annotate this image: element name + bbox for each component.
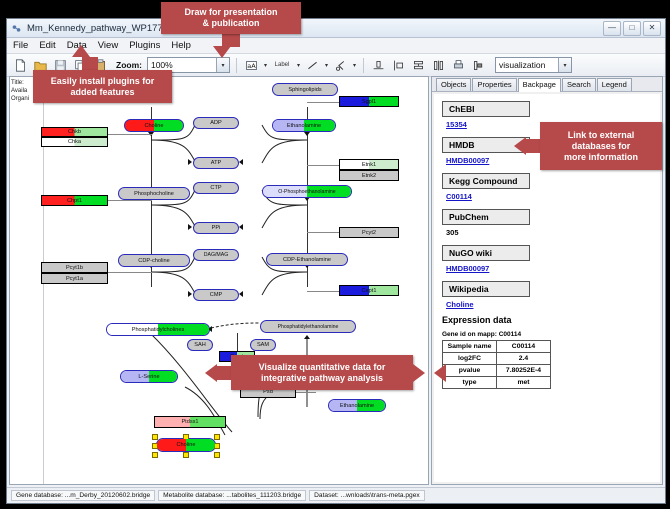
annotation-plugins-line2: added features <box>70 87 134 98</box>
menu-bar: File Edit Data View Plugins Help <box>7 38 665 54</box>
label-tool-text: Label <box>275 62 290 68</box>
menu-item-help[interactable]: Help <box>171 40 191 51</box>
node-ppi[interactable]: PPi <box>193 222 239 234</box>
edge-pcyt2-link <box>307 232 339 233</box>
annotation-links-line3: more information <box>564 152 638 163</box>
node-ctp[interactable]: CTP <box>193 182 239 194</box>
toolbar-separator <box>363 58 364 73</box>
db-header-kegg: Kegg Compound <box>442 173 530 189</box>
tab-search[interactable]: Search <box>562 78 596 91</box>
gene-chkb[interactable]: Chkb <box>41 127 108 137</box>
annotation-links: Link to external databases for more info… <box>540 122 662 170</box>
node-label: Etnk2 <box>362 173 376 179</box>
chevron-down-icon[interactable]: ▾ <box>558 58 571 72</box>
selection-handle[interactable] <box>214 452 220 458</box>
annotation-plugins: Easily install plugins for added feature… <box>33 70 172 103</box>
arrow-icon <box>239 291 243 297</box>
screenshot-root: Mm_Kennedy_pathway_WP1771_45176.gpml — □… <box>0 0 670 509</box>
edge-sgpl1-link <box>307 102 339 103</box>
node-label: Ethanolamine <box>287 123 321 129</box>
table-cell-value: 2.4 <box>497 353 551 365</box>
node-choline-selected[interactable]: Choline <box>156 438 216 452</box>
table-cell-value: met <box>497 377 551 389</box>
db-entry-wikipedia: Wikipedia Choline <box>442 279 660 309</box>
gene-etnk2[interactable]: Etnk2 <box>339 170 399 181</box>
node-label: Ptdss1 <box>181 419 198 425</box>
maximize-button[interactable]: □ <box>623 21 641 36</box>
menu-item-view[interactable]: View <box>98 40 118 51</box>
table-row: log2FC 2.4 <box>443 353 551 365</box>
selection-handle[interactable] <box>183 452 189 458</box>
table-row: Sample name C00114 <box>443 341 551 353</box>
node-label: CMP <box>210 292 222 298</box>
annotation-draw-line2: & publication <box>203 18 260 29</box>
node-cdp-ethanolamine[interactable]: CDP-Ethanolamine <box>266 253 348 266</box>
node-label: Etnk1 <box>362 162 376 168</box>
chevron-down-icon[interactable]: ▾ <box>216 58 229 72</box>
node-label: O-Phosphoethanolamine <box>278 189 335 195</box>
annotation-visualize-line2: integrative pathway analysis <box>261 373 383 384</box>
node-sphingolipids[interactable]: Sphingolipids <box>272 83 338 96</box>
annotation-draw: Draw for presentation & publication <box>161 2 301 34</box>
arrow-icon <box>188 291 192 297</box>
db-entry-nugo: NuGO wiki HMDB00097 <box>442 243 660 273</box>
chevron-down-icon[interactable]: ▾ <box>325 62 328 69</box>
title-bar: Mm_Kennedy_pathway_WP1771_45176.gpml — □… <box>7 19 665 38</box>
minimize-button[interactable]: — <box>603 21 621 36</box>
selection-handle[interactable] <box>214 434 220 440</box>
status-gene-database: Gene database: ...m_Derby_20120602.bridg… <box>11 490 155 501</box>
zoom-label: Zoom: <box>116 60 142 70</box>
bracket-icon[interactable] <box>390 57 407 74</box>
annotation-visualize-line1: Visualize quantitative data for <box>259 362 386 373</box>
node-label: PPi <box>212 225 221 231</box>
table-cell-key: pvalue <box>443 365 497 377</box>
node-label: Sgpl1 <box>362 99 376 105</box>
visualization-combo[interactable]: visualization ▾ <box>495 57 572 73</box>
edge-chk-link <box>108 134 152 135</box>
node-o-phosphoethanolamine[interactable]: O-Phosphoethanolamine <box>262 185 352 198</box>
layer-icon[interactable] <box>470 57 487 74</box>
stack-icon[interactable] <box>410 57 427 74</box>
annotation-plugins-line1: Easily install plugins for <box>51 76 155 87</box>
arrow-icon <box>239 224 243 230</box>
arrow-icon <box>188 159 192 165</box>
node-label: Sphingolipids <box>288 87 321 93</box>
annotation-plugins-arrow <box>72 45 90 57</box>
node-label: Cept1 <box>362 288 377 294</box>
annotation-visualize-arrow-far <box>434 364 446 382</box>
tab-properties[interactable]: Properties <box>472 78 516 91</box>
db-link-wikipedia[interactable]: Choline <box>446 300 660 309</box>
node-sam[interactable]: SAM <box>250 339 276 351</box>
gene-sgpl1[interactable]: Sgpl1 <box>339 96 399 107</box>
tab-backpage[interactable]: Backpage <box>518 78 561 92</box>
table-cell-key: log2FC <box>443 353 497 365</box>
node-ethanolamine-bottom[interactable]: Ethanolamine <box>328 399 386 412</box>
expression-data-table: Sample name C00114 log2FC 2.4 pvalue 7.8… <box>442 340 551 389</box>
node-label: Pcyt1a <box>66 276 83 282</box>
node-label: Phosphatidylethanolamine <box>278 324 339 330</box>
node-label: Pcyt2 <box>362 230 376 236</box>
node-label: CDP-choline <box>138 258 169 264</box>
db-header-wikipedia: Wikipedia <box>442 281 530 297</box>
db-value-pubchem: 305 <box>446 228 660 237</box>
edge-chpt1-link <box>108 200 152 201</box>
db-link-nugo[interactable]: HMDB00097 <box>446 264 660 273</box>
node-label: Phosphocholine <box>134 191 174 197</box>
selection-handle[interactable] <box>152 434 158 440</box>
node-label: Ethanolamine <box>340 403 374 409</box>
status-bar: Gene database: ...m_Derby_20120602.bridg… <box>7 487 665 503</box>
node-label: ATP <box>211 160 221 166</box>
annotation-draw-line1: Draw for presentation <box>184 7 277 18</box>
node-l-serine-left[interactable]: L-Serine <box>120 370 178 383</box>
table-cell-value: 7.80252E-4 <box>497 365 551 377</box>
node-phosphatidylethanolamine[interactable]: Phosphatidylethanolamine <box>260 320 356 333</box>
node-atp[interactable]: ATP <box>193 157 239 169</box>
gene-pcyt1b[interactable]: Pcyt1b <box>41 262 108 273</box>
close-button[interactable]: ✕ <box>643 21 661 36</box>
annotation-links-line2: databases for <box>572 141 631 152</box>
table-row: pvalue 7.80252E-4 <box>443 365 551 377</box>
edge-psd-link <box>296 392 316 393</box>
distribute-icon[interactable] <box>430 57 447 74</box>
expression-data-heading: Expression data <box>442 315 660 325</box>
arrow-icon <box>304 335 310 339</box>
text-box-icon[interactable]: aA <box>243 57 260 74</box>
node-label: CDP-Ethanolamine <box>283 257 331 263</box>
svg-text:aA: aA <box>247 61 256 69</box>
table-row: type met <box>443 377 551 389</box>
side-panel-tabs: Objects Properties Backpage Search Legen… <box>432 77 662 92</box>
node-phosphatidylcholines[interactable]: Phosphatidylcholines <box>106 323 210 336</box>
node-ethanolamine-top[interactable]: Ethanolamine <box>272 119 336 132</box>
annotation-links-arrow <box>514 137 526 155</box>
align-icon[interactable] <box>370 57 387 74</box>
menu-item-plugins[interactable]: Plugins <box>129 40 160 51</box>
node-sah[interactable]: SAH <box>187 339 213 351</box>
node-label: Chka <box>68 139 81 145</box>
annotation-draw-arrow <box>213 46 231 58</box>
gene-chpt1[interactable]: Chpt1 <box>41 195 108 206</box>
node-label: Phosphatidylcholines <box>132 327 185 333</box>
status-metabolite-database: Metabolite database: ...tabolites_111203… <box>158 490 306 501</box>
tab-legend[interactable]: Legend <box>597 78 632 91</box>
line-icon[interactable] <box>304 57 321 74</box>
chevron-down-icon[interactable]: ▾ <box>264 62 267 69</box>
label-tool-icon[interactable]: Label <box>271 57 293 74</box>
gene-chka[interactable]: Chka <box>41 137 108 147</box>
table-cell-key: Sample name <box>443 341 497 353</box>
node-label: L-Serine <box>138 374 159 380</box>
zoom-value: 100% <box>151 60 173 70</box>
node-label: CTP <box>210 185 221 191</box>
edge-etnk-link <box>307 165 339 166</box>
annotation-visualize: Visualize quantitative data for integrat… <box>231 355 413 390</box>
node-label: SAM <box>257 342 269 348</box>
new-file-icon[interactable] <box>12 57 29 74</box>
node-label: SAH <box>194 342 206 348</box>
table-cell-value: C00114 <box>497 341 551 353</box>
annotation-links-line1: Link to external <box>568 130 635 141</box>
db-entry-pubchem: PubChem 305 <box>442 207 660 237</box>
node-label: Chkb <box>68 129 81 135</box>
pathway-canvas[interactable]: Title: Availa Organi <box>9 76 429 485</box>
anchor-icon[interactable] <box>332 57 349 74</box>
arrow-icon <box>239 159 243 165</box>
selection-handle[interactable] <box>152 452 158 458</box>
status-dataset: Dataset: ...wnloads\trans-meta.pgex <box>309 490 425 501</box>
node-label: Pcyt1b <box>66 265 83 271</box>
gene-etnk1[interactable]: Etnk1 <box>339 159 399 170</box>
app-icon <box>11 23 22 34</box>
node-choline-top[interactable]: Choline <box>124 119 184 132</box>
edge-pcyt1-link <box>108 272 152 273</box>
gene-pcyt2[interactable]: Pcyt2 <box>339 227 399 238</box>
menu-item-file[interactable]: File <box>13 40 28 51</box>
arrow-icon <box>188 224 192 230</box>
db-header-chebi: ChEBI <box>442 101 530 117</box>
chevron-down-icon[interactable]: ▾ <box>353 62 356 69</box>
gene-cept1[interactable]: Cept1 <box>339 285 399 296</box>
edge-cept1-link <box>307 291 339 292</box>
gene-id-line: Gene id on mapp: C00114 <box>442 331 660 338</box>
menu-item-edit[interactable]: Edit <box>39 40 55 51</box>
edge-pemt-link <box>237 333 238 351</box>
db-header-pubchem: PubChem <box>442 209 530 225</box>
node-phosphocholine[interactable]: Phosphocholine <box>118 187 190 200</box>
gene-ptdss1[interactable]: Ptdss1 <box>154 416 226 428</box>
annotation-visualize-arrow-right <box>413 364 425 382</box>
node-cmp[interactable]: CMP <box>193 289 239 301</box>
chevron-down-icon[interactable]: ▾ <box>297 62 300 69</box>
visualization-value: visualization <box>499 60 545 70</box>
table-cell-key: type <box>443 377 497 389</box>
node-label: Choline <box>145 123 164 129</box>
node-adp[interactable]: ADP <box>193 117 239 129</box>
db-link-kegg[interactable]: C00114 <box>446 192 660 201</box>
tab-objects[interactable]: Objects <box>436 78 471 91</box>
print-icon[interactable] <box>450 57 467 74</box>
node-label: Chpt1 <box>67 198 82 204</box>
node-dag-mag[interactable]: DAG/MAG <box>193 249 239 261</box>
node-label: Choline <box>177 442 196 448</box>
gene-pcyt1a[interactable]: Pcyt1a <box>41 273 108 284</box>
db-entry-kegg: Kegg Compound C00114 <box>442 171 660 201</box>
toolbar-separator <box>236 58 237 73</box>
annotation-visualize-arrow <box>205 364 217 382</box>
db-header-nugo: NuGO wiki <box>442 245 530 261</box>
node-label: ADP <box>210 120 222 126</box>
annotation-plugins-stem <box>82 57 98 71</box>
node-cdp-choline[interactable]: CDP-choline <box>118 254 190 267</box>
node-label: DAG/MAG <box>204 252 229 258</box>
window-controls[interactable]: — □ ✕ <box>603 21 661 36</box>
